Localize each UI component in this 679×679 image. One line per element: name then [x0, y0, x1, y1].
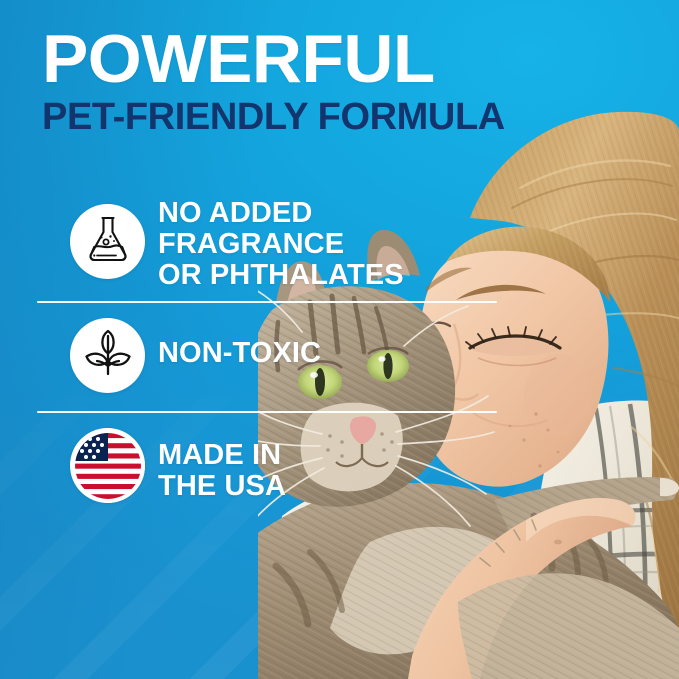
plant-leaf-icon — [83, 328, 133, 383]
headline-block: POWERFUL PET-FRIENDLY FORMULA — [42, 26, 642, 136]
feature-icon-badge — [70, 204, 145, 279]
usa-flag-icon — [75, 433, 141, 499]
feature-icon-badge — [70, 318, 145, 393]
feature-label: MADE IN THE USA — [158, 440, 286, 502]
feature-divider — [37, 301, 497, 303]
flask-icon — [84, 214, 132, 269]
promo-banner: POWERFUL PET-FRIENDLY FORMULA — [0, 0, 679, 679]
headline-primary: POWERFUL — [42, 26, 654, 93]
feature-item-made-in-usa: MADE IN THE USA — [0, 412, 520, 508]
feature-item-non-toxic: NON-TOXIC — [0, 302, 520, 398]
feature-label: NO ADDED FRAGRANCE OR PHTHALATES — [158, 198, 404, 291]
feature-icon-badge — [70, 428, 145, 503]
feature-divider — [37, 411, 497, 413]
headline-secondary: PET-FRIENDLY FORMULA — [42, 98, 642, 136]
feature-label: NON-TOXIC — [158, 338, 321, 369]
feature-item-no-added-fragrance: NO ADDED FRAGRANCE OR PHTHALATES — [0, 190, 520, 286]
